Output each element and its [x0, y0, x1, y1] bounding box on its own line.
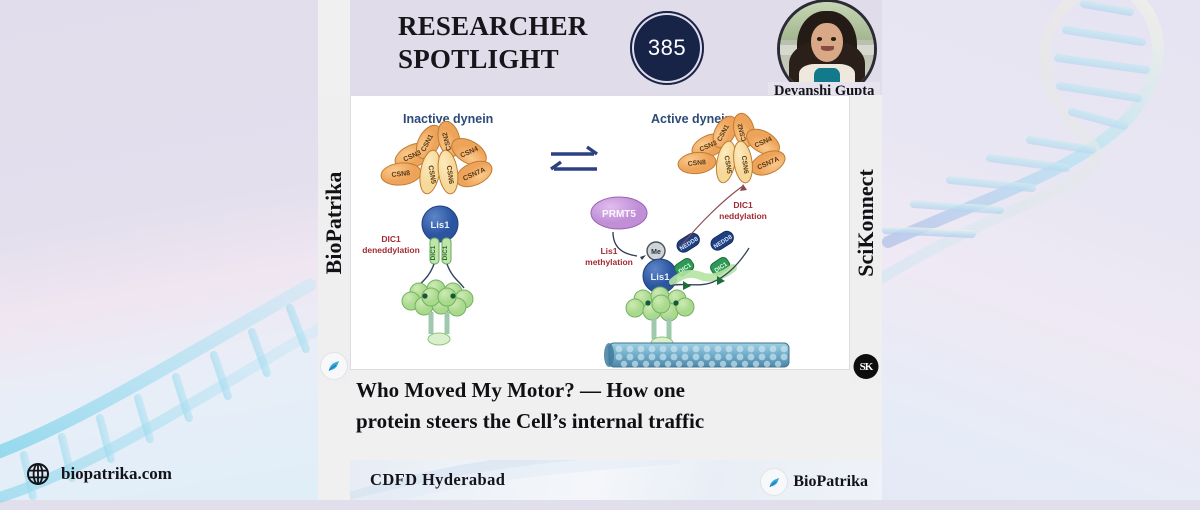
- headline-line-2: protein steers the Cell’s internal traff…: [356, 406, 856, 437]
- spotlight-card: RESEARCHER SPOTLIGHT 385 Devanshi Gupta …: [318, 0, 882, 500]
- brand-rail-biopatrika: BioPatrika: [318, 95, 350, 385]
- watermark: biopatrika.com: [26, 462, 172, 486]
- svg-text:deneddylation: deneddylation: [362, 245, 420, 255]
- brand-rail-scikonnect: SciKonnect SK: [850, 95, 882, 385]
- equilibrium-arrows-icon: [551, 147, 597, 169]
- card-header: RESEARCHER SPOTLIGHT 385 Devanshi Gupta: [350, 0, 882, 95]
- svg-text:DIC1: DIC1: [430, 245, 437, 260]
- svg-text:neddylation: neddylation: [719, 211, 767, 221]
- brand-rail-right-label: SciKonnect: [853, 169, 879, 277]
- dic1-released-right: NEDD8 NEDD8 DIC1 DIC1: [669, 229, 749, 290]
- footer-brand-text: BioPatrika: [793, 473, 868, 491]
- svg-text:DIC1: DIC1: [442, 245, 449, 260]
- globe-icon: [26, 462, 50, 486]
- annotation-dic1-deneddylation: DIC1: [381, 234, 401, 244]
- brand-rail-left-label: BioPatrika: [321, 171, 347, 274]
- dic1-stalk-left: DIC1 DIC1: [417, 238, 464, 288]
- svg-text:PRMT5: PRMT5: [602, 209, 636, 220]
- title-line-1: RESEARCHER: [398, 10, 648, 43]
- csn-complex-right: CSN3 CSN1 CSN2 CSN4 CSN8 CSN7A CSN5 CSN6: [677, 111, 789, 184]
- researcher-avatar-block: Devanshi Gupta: [780, 2, 874, 96]
- svg-text:methylation: methylation: [585, 257, 633, 267]
- scikonnect-logo-text: SK: [854, 354, 879, 379]
- background-left-panel: [0, 0, 320, 500]
- biopatrika-logo-icon: [761, 469, 787, 495]
- footer-brand: BioPatrika: [761, 469, 868, 495]
- svg-text:Lis1: Lis1: [650, 272, 670, 283]
- headline-line-1: Who Moved My Motor? — How one: [356, 375, 856, 406]
- svg-text:DIC1: DIC1: [733, 200, 753, 210]
- footer-institution: CDFD Hyderabad: [370, 470, 505, 490]
- dynein-motor-right: [626, 287, 694, 349]
- background-right-panel: [880, 0, 1200, 500]
- biopatrika-logo-icon: [321, 353, 347, 379]
- card-footer: CDFD Hyderabad BioPatrika: [350, 460, 882, 500]
- issue-number-badge: 385: [630, 11, 704, 85]
- scikonnect-logo-icon: SK: [854, 354, 879, 379]
- watermark-text: biopatrika.com: [61, 464, 172, 484]
- svg-text:Me: Me: [651, 249, 661, 256]
- svg-text:Lis1: Lis1: [430, 220, 450, 231]
- issue-number: 385: [648, 35, 686, 61]
- csn-complex-left: CSN3 CSN1 CSN2 CSN4 CSN8 CSN7A CSN5 CSN6: [380, 119, 496, 195]
- research-figure: Inactive dynein Active dynein: [350, 95, 850, 370]
- title-line-2: SPOTLIGHT: [398, 43, 648, 76]
- svg-text:Lis1: Lis1: [600, 246, 617, 256]
- dynein-motor-left: [402, 280, 473, 345]
- page-title: RESEARCHER SPOTLIGHT: [398, 10, 648, 76]
- article-headline: Who Moved My Motor? — How one protein st…: [356, 375, 856, 437]
- microtubule-icon: [604, 343, 789, 367]
